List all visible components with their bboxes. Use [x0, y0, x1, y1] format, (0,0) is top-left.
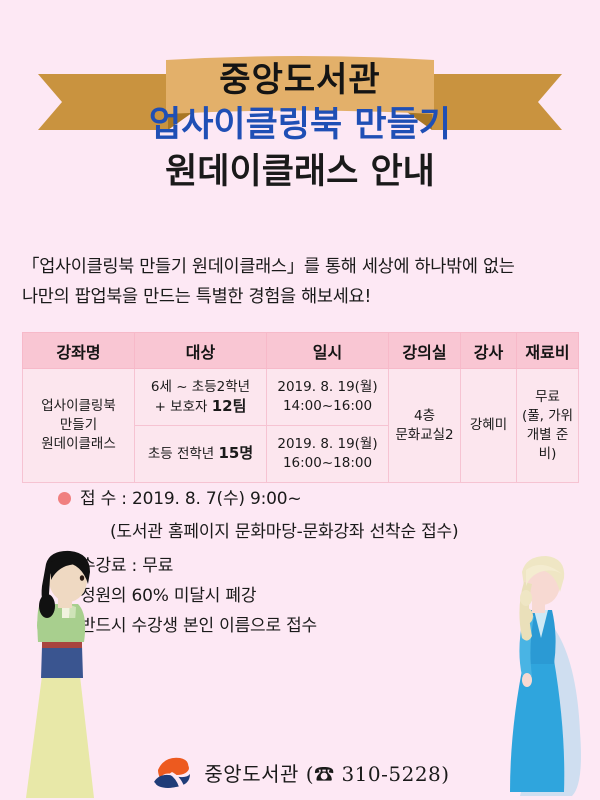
- cell-datetime-row2: 2019. 8. 19(월) 16:00~18:00: [267, 426, 389, 483]
- target-row1-count: 12팀: [212, 397, 247, 415]
- datetime-row2-date: 2019. 8. 19(월): [277, 436, 377, 452]
- footer-paren-open: (: [306, 762, 314, 786]
- footer-phone-number: 310-5228: [341, 762, 441, 786]
- fee-line-2: (풀, 가위: [522, 408, 573, 424]
- intro-line-2: 나만의 팝업북을 만드는 특별한 경험을 해보세요!: [22, 282, 582, 312]
- poster-title-line-3: 원데이클래스 안내: [0, 150, 600, 194]
- table-header-room: 강의실: [389, 333, 461, 369]
- table-header-course: 강좌명: [23, 333, 135, 369]
- table-header-row: 강좌명 대상 일시 강의실 강사 재료비: [23, 333, 579, 369]
- bullet-text-registration: 접 수 : 2019. 8. 7(수) 9:00~: [80, 487, 301, 511]
- table-header-datetime: 일시: [267, 333, 389, 369]
- cell-instructor: 강혜미: [461, 369, 517, 483]
- fee-line-1: 무료: [535, 389, 560, 405]
- target-row2-count: 15명: [219, 444, 254, 462]
- footer-branding: 중앙도서관 (☎ 310-5228): [0, 752, 600, 792]
- table-row: 업사이클링북 만들기 원데이클래스 6세 ~ 초등2학년 + 보호자 12팀 2…: [23, 369, 579, 426]
- room-line-2: 문화교실2: [395, 427, 453, 443]
- footer-library-name: 중앙도서관: [204, 762, 299, 786]
- bullet-dot-icon: [58, 492, 71, 505]
- cell-datetime-row1: 2019. 8. 19(월) 14:00~16:00: [267, 369, 389, 426]
- intro-line-1: 「업사이클링북 만들기 원데이클래스」를 통해 세상에 하나밖에 없는: [22, 252, 582, 282]
- room-line-1: 4층: [414, 408, 435, 424]
- fee-line-3: 개별 준비): [527, 427, 569, 462]
- course-info-table: 강좌명 대상 일시 강의실 강사 재료비 업사이클링북 만들기 원데이클래스: [22, 332, 579, 483]
- cell-fee: 무료 (풀, 가위 개별 준비): [517, 369, 579, 483]
- cell-target-row1: 6세 ~ 초등2학년 + 보호자 12팀: [135, 369, 267, 426]
- table-header-instructor: 강사: [461, 333, 517, 369]
- poster-root: 중앙도서관 업사이클링북 만들기 원데이클래스 안내 「업사이클링북 만들기 원…: [0, 0, 600, 800]
- cell-room: 4층 문화교실2: [389, 369, 461, 483]
- course-name-line-1: 업사이클링북: [41, 398, 116, 414]
- course-name-line-3: 원데이클래스: [41, 436, 116, 452]
- cell-target-row2: 초등 전학년 15명: [135, 426, 267, 483]
- table-header-target: 대상: [135, 333, 267, 369]
- datetime-row2-time: 16:00~18:00: [283, 455, 372, 471]
- target-row1-line2-plain: + 보호자: [155, 399, 212, 415]
- footer-paren-close: ): [441, 762, 449, 786]
- intro-paragraph: 「업사이클링북 만들기 원데이클래스」를 통해 세상에 하나밖에 없는 나만의 …: [22, 252, 582, 312]
- poster-title-line-2: 업사이클링북 만들기: [0, 103, 600, 147]
- cell-course-name: 업사이클링북 만들기 원데이클래스: [23, 369, 135, 483]
- course-name-line-2: 만들기: [60, 417, 97, 433]
- footer-text: 중앙도서관 (☎ 310-5228): [204, 758, 449, 787]
- banner-organization-title: 중앙도서관: [0, 58, 600, 102]
- target-row1-line1: 6세 ~ 초등2학년: [151, 379, 250, 395]
- target-row2-plain: 초등 전학년: [148, 446, 219, 462]
- datetime-row1-date: 2019. 8. 19(월): [277, 379, 377, 395]
- registration-sub-note: (도서관 홈페이지 문화마당-문화강좌 선착순 접수): [110, 517, 558, 542]
- course-info-table-wrap: 강좌명 대상 일시 강의실 강사 재료비 업사이클링북 만들기 원데이클래스: [22, 332, 578, 483]
- telephone-icon: ☎: [314, 762, 335, 786]
- library-logo-icon: [150, 752, 196, 792]
- list-item: 접 수 : 2019. 8. 7(수) 9:00~: [58, 487, 558, 511]
- table-header-fee: 재료비: [517, 333, 579, 369]
- datetime-row1-time: 14:00~16:00: [283, 398, 372, 414]
